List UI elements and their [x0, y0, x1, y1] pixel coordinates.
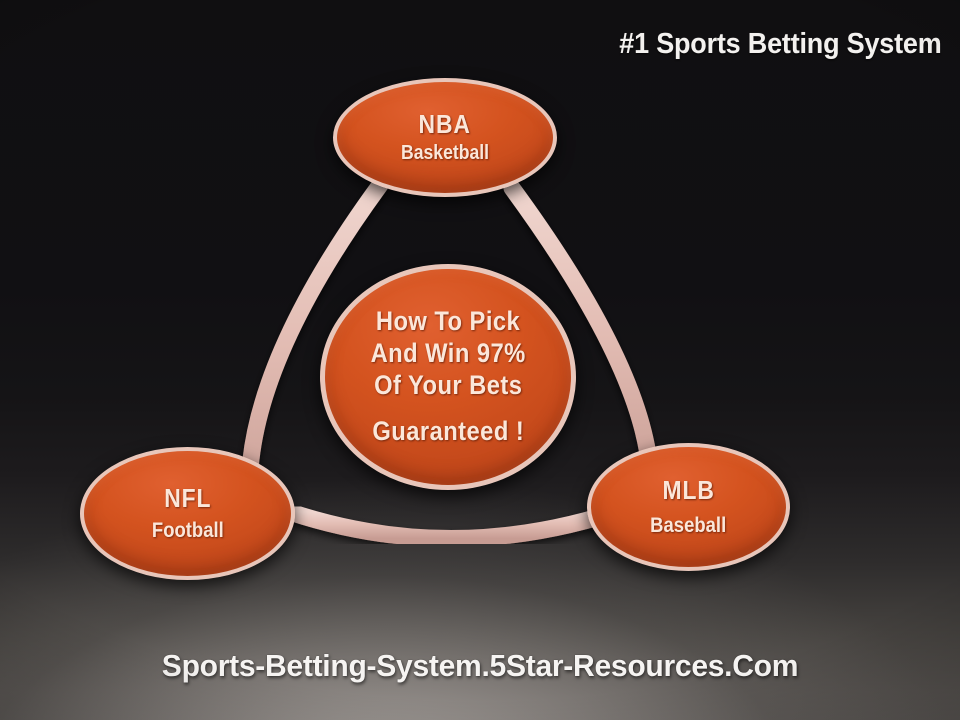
center-line-3: Of Your Bets	[374, 370, 522, 402]
infographic-canvas: NBA Basketball NFL Football MLB Baseball…	[0, 0, 960, 720]
node-center-offer[interactable]: How To Pick And Win 97% Of Your Bets Gua…	[320, 264, 576, 490]
node-nfl-sport: Football	[152, 519, 224, 544]
node-nfl[interactable]: NFL Football	[80, 447, 295, 580]
node-nba-sport: Basketball	[401, 142, 489, 166]
node-mlb[interactable]: MLB Baseball	[587, 443, 790, 571]
center-line-1: How To Pick	[376, 306, 520, 338]
node-mlb-league: MLB	[662, 475, 714, 506]
center-line-2: And Win 97%	[370, 338, 525, 370]
node-mlb-sport: Baseball	[650, 514, 726, 539]
connector-nfl-mlb	[290, 512, 615, 539]
node-nfl-league: NFL	[164, 483, 211, 514]
node-nba[interactable]: NBA Basketball	[333, 78, 557, 197]
node-nba-league: NBA	[419, 109, 471, 140]
center-guarantee: Guaranteed !	[372, 416, 524, 448]
